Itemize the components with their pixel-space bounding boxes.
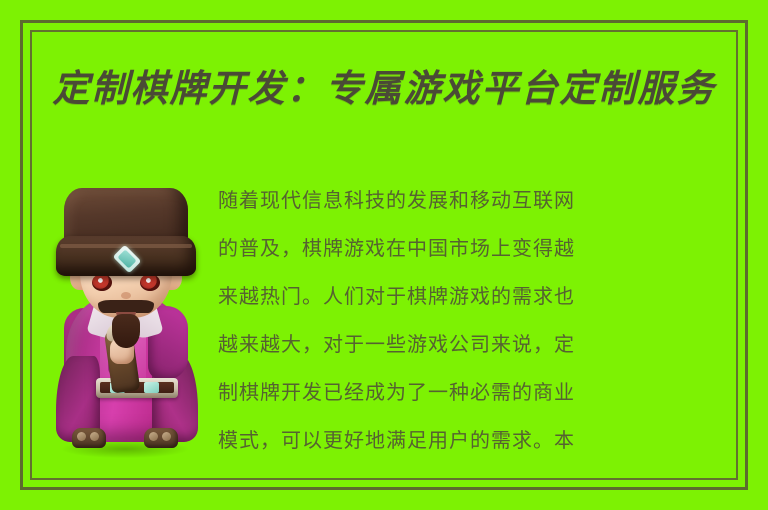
shoe-ornament xyxy=(90,432,99,441)
body-line: 来越热门。人们对于棋牌游戏的需求也 xyxy=(218,272,538,320)
body-copy: 随着现代信息科技的发展和移动互联网 的普及，棋牌游戏在中国市场上变得越 来越热门… xyxy=(218,176,538,464)
poster-canvas: 定制棋牌开发：专属游戏平台定制服务 xyxy=(0,0,768,510)
body-line: 越来越大，对于一些游戏公司来说，定 xyxy=(218,320,538,368)
eye-left xyxy=(92,274,112,291)
body-line: 模式，可以更好地满足用户的需求。本 xyxy=(218,416,538,464)
beard xyxy=(112,314,140,348)
body-line: 随着现代信息科技的发展和移动互联网 xyxy=(218,176,538,224)
page-title: 定制棋牌开发：专属游戏平台定制服务 xyxy=(34,56,734,120)
character-illustration xyxy=(44,188,208,464)
shoe-ornament xyxy=(162,432,171,441)
shoe-ornament xyxy=(77,432,86,441)
belt-jade-right xyxy=(144,382,159,393)
nose xyxy=(121,292,131,299)
eye-right xyxy=(140,274,160,291)
body-line: 的普及，棋牌游戏在中国市场上变得越 xyxy=(218,224,538,272)
shoe-ornament xyxy=(149,432,158,441)
body-line: 制棋牌开发已经成为了一种必需的商业 xyxy=(218,368,538,416)
